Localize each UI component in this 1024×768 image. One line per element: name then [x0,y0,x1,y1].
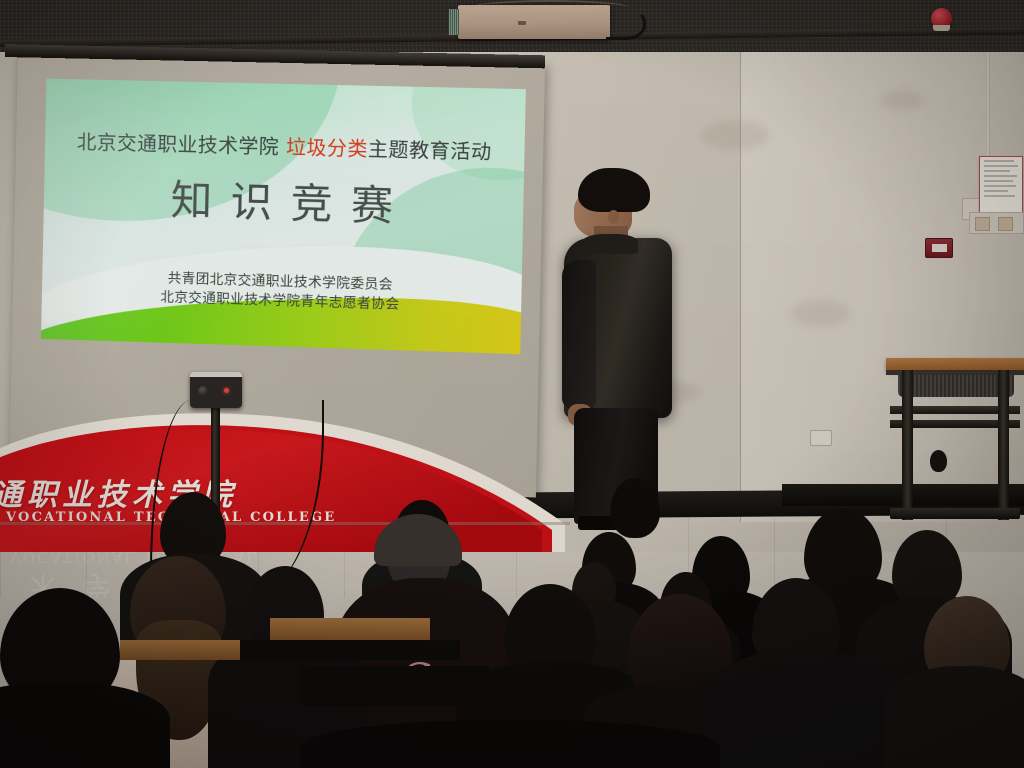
audience-body [708,650,894,768]
audience-body [884,666,1024,768]
wall-smudge [880,90,924,110]
notice-text-line [984,165,1018,167]
slide-heading-prefix: 北京交通职业技术学院 [77,130,280,158]
desk-basket [898,375,1014,397]
audience-desk-edge [240,640,460,660]
notice-text-line [984,160,1014,162]
audience: G [0,470,1024,768]
wall-smudge [700,120,770,150]
wall-notice [979,156,1023,214]
audience-foreground-row [300,720,720,768]
projector-vent-icon [449,9,459,35]
audience-seat-back [300,666,490,706]
notice-text-line [984,190,1008,192]
presenter-hair [578,168,650,212]
presenter-ear [608,210,619,224]
switch-box[interactable] [925,238,953,258]
slide-text-content: 北京交通职业技术学院 垃圾分类主题教育活动 知识竞赛 共青团北京交通职业技术学院… [41,79,526,355]
notice-text-line [984,170,1010,172]
audience-head [610,478,660,538]
tripod-projector-icon [190,372,242,408]
slide-title: 知识竞赛 [43,163,524,236]
slide-organizers: 共青团北京交通职业技术学院委员会 北京交通职业技术学院青年志愿者协会 [42,266,522,319]
ceiling-projector-icon [458,5,610,39]
projector-power-led-icon [224,388,229,393]
projector-cable [606,10,646,40]
panel-square-icon [998,217,1013,231]
audience-desk [270,618,430,642]
slide-heading: 北京交通职业技术学院 垃圾分类主题教育活动 [45,125,525,166]
presenter-collar [582,234,638,254]
audience-body [0,682,170,768]
presentation-slide: 北京交通职业技术学院 垃圾分类主题教育活动 知识竞赛 共青团北京交通职业技术学院… [41,79,526,355]
notice-text-line [984,185,1016,187]
alarm-base [933,25,950,31]
lecture-hall-scene: 北京交通职业技术学院 垃圾分类主题教育活动 知识竞赛 共青团北京交通职业技术学院… [0,0,1024,768]
projector-led-icon [518,21,526,25]
audience-cap-icon [374,514,462,566]
wall-panel [969,212,1024,234]
notice-text-line [984,180,1013,182]
notice-text-line [984,175,1017,177]
notice-text-line [984,195,1015,197]
slide-heading-highlight: 垃圾分类 [286,135,368,160]
wall-outlet [810,430,832,446]
audience-desk [120,640,240,660]
slide-heading-suffix: 主题教育活动 [368,137,492,163]
projector-lens-icon [198,386,208,396]
panel-square-icon [975,217,990,231]
presenter-arm [562,260,596,410]
wall-smudge [790,300,850,326]
